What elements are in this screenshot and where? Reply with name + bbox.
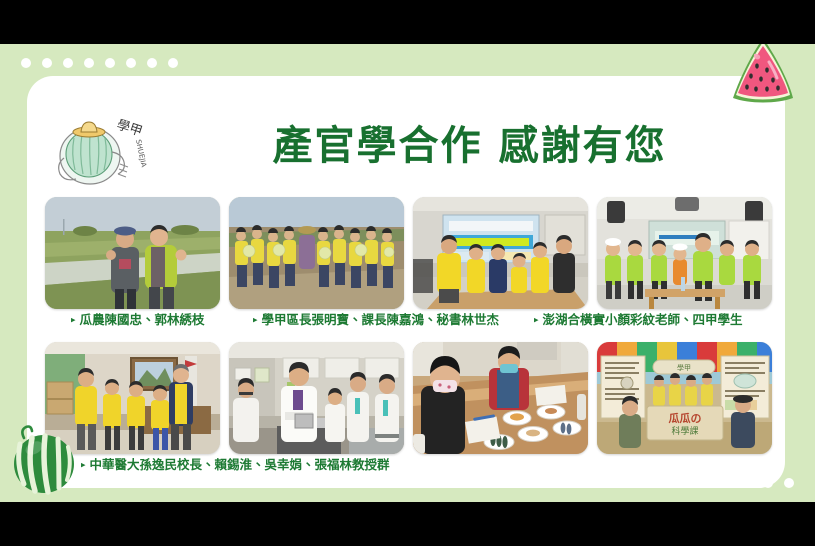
caption-text: 澎湖合橫實小顏彩紋老師、四甲學生 [543,314,743,327]
presentation-slide: 學甲 SHUEJIA 產官學合作 感謝有您 [0,0,815,546]
dot [105,58,115,68]
svg-text:學甲: 學甲 [115,118,144,140]
caption-text: 中華醫大孫逸民校長、賴錫淮、吳幸娟、張福林教授群 [90,459,390,472]
caption-text: 瓜農陳國忠、郭林綉枝 [80,314,205,327]
caption-text: 學甲區長張明寶、課長陳嘉鴻、秘書林世杰 [262,314,500,327]
slide-canvas: 學甲 SHUEJIA 產官學合作 感謝有您 [0,44,815,502]
dot [126,58,136,68]
photo-caption: ▸ 學甲區長張明寶、課長陳嘉鴻、秘書林世杰 [253,314,499,327]
photo-thumbnail[interactable] [229,342,404,454]
caption-marker-icon: ▸ [534,316,539,325]
content-card: 學甲 SHUEJIA 產官學合作 感謝有您 [27,76,785,488]
caption-marker-icon: ▸ [253,316,258,325]
watermelon-slice-icon [723,44,803,110]
photo-caption: ▸ 瓜農陳國忠、郭林綉枝 [71,314,205,327]
watermelon-whole-icon [4,422,82,496]
photo-caption: ▸ 澎湖合橫實小顏彩紋老師、四甲學生 [534,314,743,327]
photo-thumbnail[interactable]: 學甲 [597,342,772,454]
letterbox-top [0,0,815,44]
dot [42,58,52,68]
svg-text:SHUEJIA: SHUEJIA [134,139,148,168]
photo-caption: ▸ 中華醫大孫逸民校長、賴錫淮、吳幸娟、張福林教授群 [81,459,390,472]
caption-row-1: ▸ 瓜農陳國忠、郭林綉枝 ▸ 學甲區長張明寶、課長陳嘉鴻、秘書林世杰 ▸ 澎湖合… [45,314,775,336]
svg-text:科學課: 科學課 [671,425,698,437]
photo-thumbnail[interactable] [45,197,220,309]
caption-marker-icon: ▸ [71,316,76,325]
letterbox-bottom [0,502,815,546]
photo-thumbnail[interactable] [229,197,404,309]
photo-thumbnail[interactable] [413,342,588,454]
dot [84,58,94,68]
dot [168,58,178,68]
dot [63,58,73,68]
photo-row-1 [45,197,769,309]
caption-row-2: ▸ 中華醫大孫逸民校長、賴錫淮、吳幸娟、張福林教授群 [45,459,775,481]
svg-text:學甲: 學甲 [677,363,691,372]
dot [147,58,157,68]
photo-thumbnail[interactable] [597,197,772,309]
svg-text:瓜瓜の: 瓜瓜の [669,412,702,425]
decorative-dot-row-top [21,58,178,68]
page-title: 產官學合作 感謝有您 [177,124,762,168]
dot [784,478,794,488]
photo-thumbnail[interactable] [413,197,588,309]
dot [21,58,31,68]
photo-row-2: 學甲 [45,342,769,454]
shuejia-watermelon-logo: 學甲 SHUEJIA [48,106,156,192]
